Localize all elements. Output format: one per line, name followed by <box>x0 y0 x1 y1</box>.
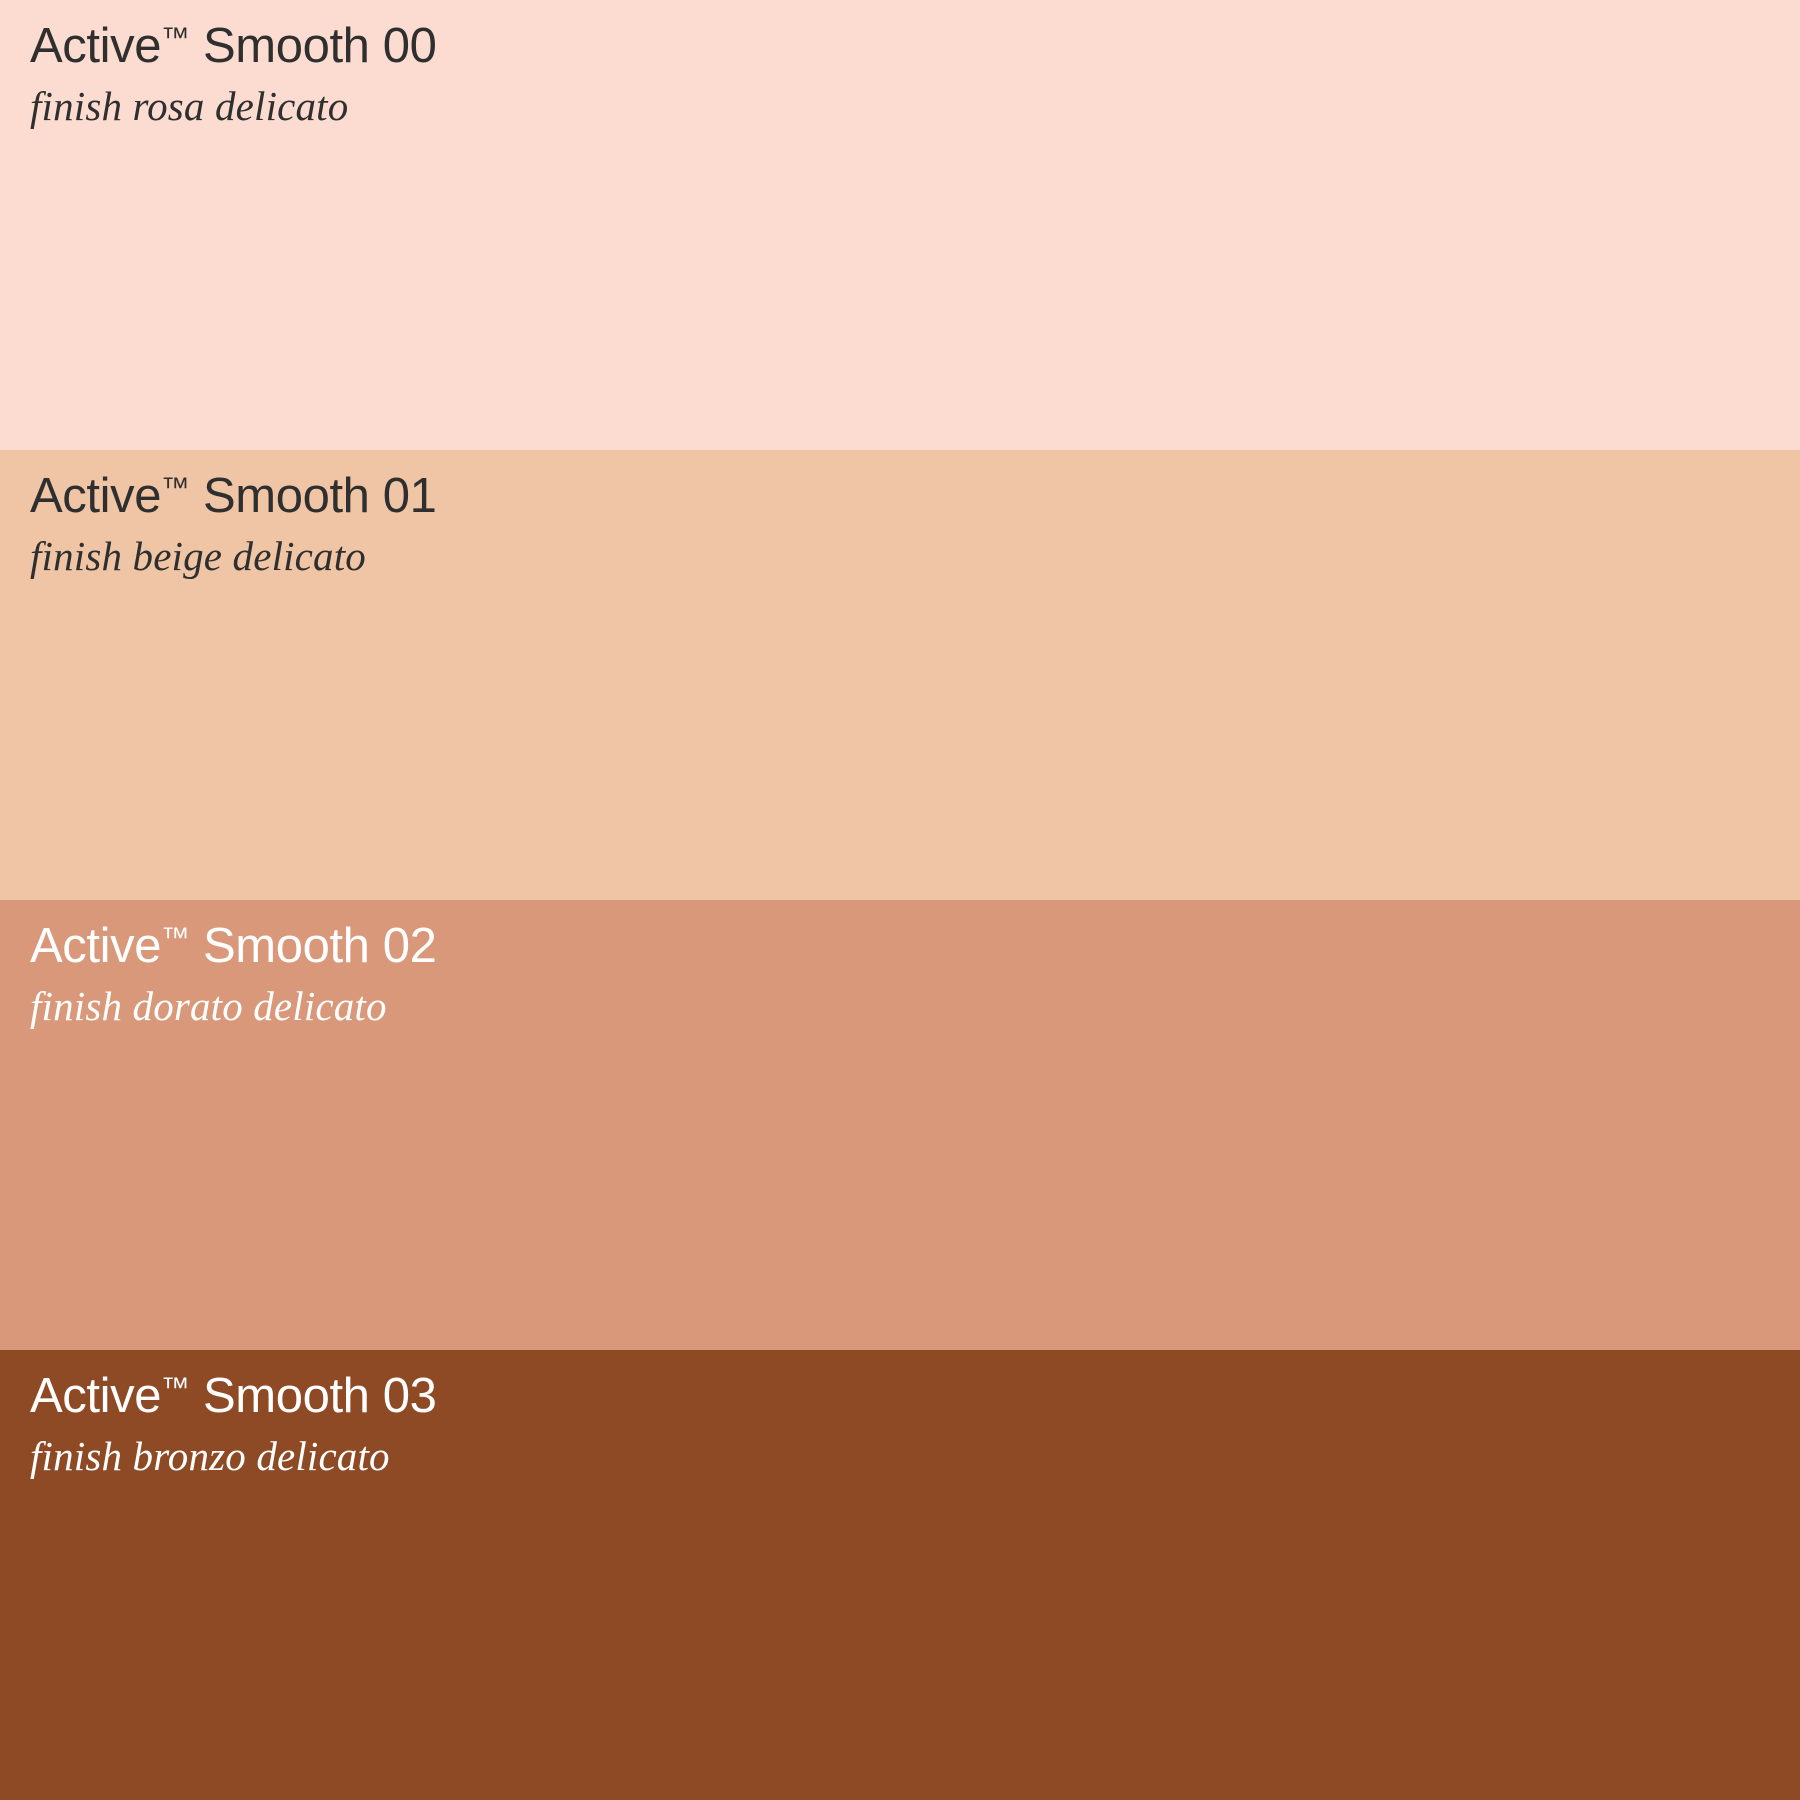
shade-finish-description: finish dorato delicato <box>30 982 1130 1031</box>
shade-name-suffix: Smooth 00 <box>190 19 437 73</box>
shade-name-base: Active <box>30 1369 161 1423</box>
trademark-symbol: ™ <box>161 1372 190 1404</box>
shade-name-suffix: Smooth 03 <box>190 1369 437 1423</box>
shade-label-block: Active™ Smooth 03 finish bronzo delicato <box>30 1368 1130 1481</box>
shade-band-00[interactable]: Active™ Smooth 00 finish rosa delicato <box>0 0 1800 450</box>
shade-name: Active™ Smooth 03 <box>30 1368 1130 1426</box>
shade-finish-description: finish beige delicato <box>30 532 1130 581</box>
shade-name-base: Active <box>30 469 161 523</box>
shade-name: Active™ Smooth 01 <box>30 468 1130 526</box>
shade-name-base: Active <box>30 919 161 973</box>
trademark-symbol: ™ <box>161 922 190 954</box>
shade-finish-description: finish rosa delicato <box>30 82 1130 131</box>
shade-band-01[interactable]: Active™ Smooth 01 finish beige delicato <box>0 450 1800 900</box>
shade-name-suffix: Smooth 01 <box>190 469 437 523</box>
shade-label-block: Active™ Smooth 02 finish dorato delicato <box>30 918 1130 1031</box>
trademark-symbol: ™ <box>161 472 190 504</box>
shade-band-03[interactable]: Active™ Smooth 03 finish bronzo delicato <box>0 1350 1800 1800</box>
shade-band-02[interactable]: Active™ Smooth 02 finish dorato delicato <box>0 900 1800 1350</box>
shade-name: Active™ Smooth 02 <box>30 918 1130 976</box>
trademark-symbol: ™ <box>161 22 190 54</box>
shade-finish-description: finish bronzo delicato <box>30 1432 1130 1481</box>
shade-name: Active™ Smooth 00 <box>30 18 1130 76</box>
shade-label-block: Active™ Smooth 01 finish beige delicato <box>30 468 1130 581</box>
shade-swatch-board: Active™ Smooth 00 finish rosa delicato A… <box>0 0 1800 1800</box>
shade-name-base: Active <box>30 19 161 73</box>
shade-label-block: Active™ Smooth 00 finish rosa delicato <box>30 18 1130 131</box>
shade-name-suffix: Smooth 02 <box>190 919 437 973</box>
